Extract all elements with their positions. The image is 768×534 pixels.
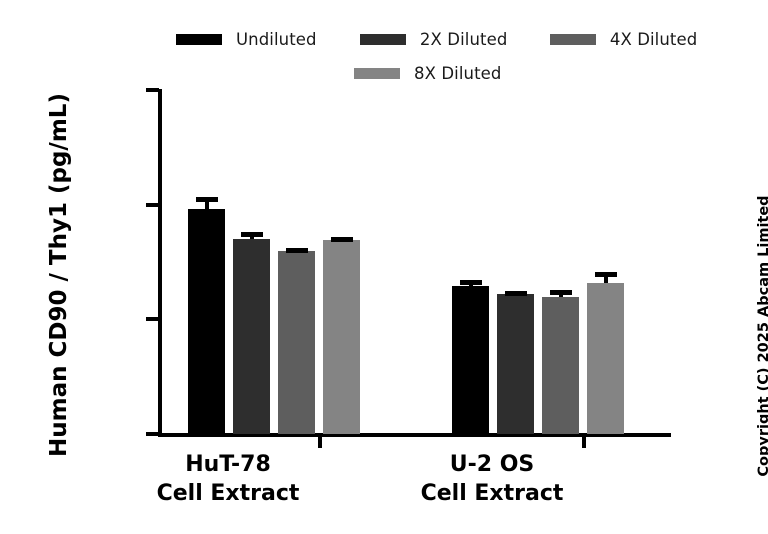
x-group-label-1-line1: U-2 OS xyxy=(450,452,535,477)
bar-4x-diluted-group-1 xyxy=(542,297,579,434)
error-bar-cap-4x-diluted-group-1 xyxy=(550,290,572,295)
bar-8x-diluted-group-1 xyxy=(587,283,624,434)
plot-area: 050010001500 Human CD90 / Thy1 (pg/mL) H… xyxy=(0,0,768,534)
copyright-notice: Copyright (C) 2025 Abcam Limited xyxy=(756,176,768,496)
error-bar-cap-undiluted-group-1 xyxy=(460,280,482,285)
bar-8x-diluted-group-0 xyxy=(323,240,360,434)
bar-2x-diluted-group-1 xyxy=(497,294,534,434)
bar-undiluted-group-1 xyxy=(452,286,489,434)
bar-4x-diluted-group-0 xyxy=(278,251,315,434)
bars-layer xyxy=(0,0,768,435)
x-group-label-0: HuT-78 Cell Extract xyxy=(128,450,328,508)
x-axis-tick-1 xyxy=(582,437,586,448)
x-axis-tick-0 xyxy=(318,437,322,448)
bar-undiluted-group-0 xyxy=(188,209,225,434)
y-axis-label: Human CD90 / Thy1 (pg/mL) xyxy=(46,65,72,485)
x-group-label-1-line2: Cell Extract xyxy=(392,479,592,508)
x-group-label-1: U-2 OS Cell Extract xyxy=(392,450,592,508)
x-group-label-0-line1: HuT-78 xyxy=(185,452,271,477)
chart-figure: Undiluted 2X Diluted 4X Diluted 8X Dilut… xyxy=(0,0,768,534)
bar-2x-diluted-group-0 xyxy=(233,239,270,434)
error-bar-cap-2x-diluted-group-1 xyxy=(505,291,527,296)
x-group-label-0-line2: Cell Extract xyxy=(128,479,328,508)
error-bar-cap-undiluted-group-0 xyxy=(196,197,218,202)
error-bar-cap-8x-diluted-group-1 xyxy=(595,272,617,277)
error-bar-cap-4x-diluted-group-0 xyxy=(286,248,308,253)
error-bar-cap-8x-diluted-group-0 xyxy=(331,237,353,242)
error-bar-cap-2x-diluted-group-0 xyxy=(241,232,263,237)
